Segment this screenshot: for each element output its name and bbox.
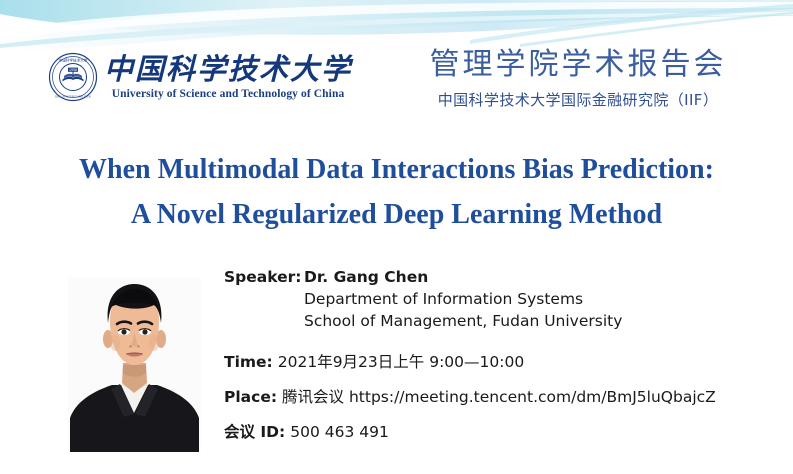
place-row: Place: 腾讯会议 https://meeting.tencent.com/… [224, 385, 769, 407]
speaker-affiliation-line-1: Department of Information Systems [304, 288, 769, 310]
event-subtitle-cn: 中国科学技术大学国际金融研究院（IIF） [398, 89, 758, 110]
time-row: Time: 2021年9月23日上午 9:00—10:00 [224, 350, 769, 372]
event-details: Speaker: Dr. Gang Chen Department of Inf… [224, 268, 769, 444]
talk-title-line-2: A Novel Regularized Deep Learning Method [0, 192, 793, 237]
svg-text:1958: 1958 [69, 68, 77, 72]
speaker-row: Speaker: Dr. Gang Chen [224, 268, 769, 286]
ustc-seal-icon: 1958 中国科学技术大学 UNIV. OF SCIENCE AND TECH. [48, 52, 98, 102]
meeting-id-label: 会议 ID: [224, 420, 285, 442]
speaker-label: Speaker: [224, 268, 304, 286]
talk-title-line-1: When Multimodal Data Interactions Bias P… [0, 147, 793, 192]
speaker-name: Dr. Gang Chen [304, 268, 428, 286]
university-logo-block: 1958 中国科学技术大学 UNIV. OF SCIENCE AND TECH.… [48, 52, 352, 102]
place-value[interactable]: 腾讯会议 https://meeting.tencent.com/dm/BmJ5… [282, 385, 716, 407]
speaker-portrait [68, 277, 201, 452]
university-name-cn: 中国科学技术大学 [104, 54, 352, 84]
meeting-id-value: 500 463 491 [290, 423, 389, 441]
time-value: 2021年9月23日上午 9:00—10:00 [278, 350, 524, 372]
seminar-poster: 1958 中国科学技术大学 UNIV. OF SCIENCE AND TECH.… [0, 0, 793, 474]
speaker-affiliation-line-2: School of Management, Fudan University [304, 310, 769, 332]
svg-text:UNIV. OF SCIENCE AND TECH.: UNIV. OF SCIENCE AND TECH. [55, 95, 92, 98]
poster-header: 1958 中国科学技术大学 UNIV. OF SCIENCE AND TECH.… [0, 46, 793, 132]
event-title-block: 管理学院学术报告会 中国科学技术大学国际金融研究院（IIF） [398, 46, 758, 110]
event-title-cn: 管理学院学术报告会 [398, 46, 758, 84]
talk-title: When Multimodal Data Interactions Bias P… [0, 147, 793, 238]
svg-text:中国科学技术大学: 中国科学技术大学 [59, 57, 88, 62]
university-name-en: University of Science and Technology of … [112, 88, 345, 100]
place-label: Place: [224, 388, 277, 406]
time-label: Time: [224, 353, 273, 371]
meeting-id-row: 会议 ID: 500 463 491 [224, 420, 769, 442]
